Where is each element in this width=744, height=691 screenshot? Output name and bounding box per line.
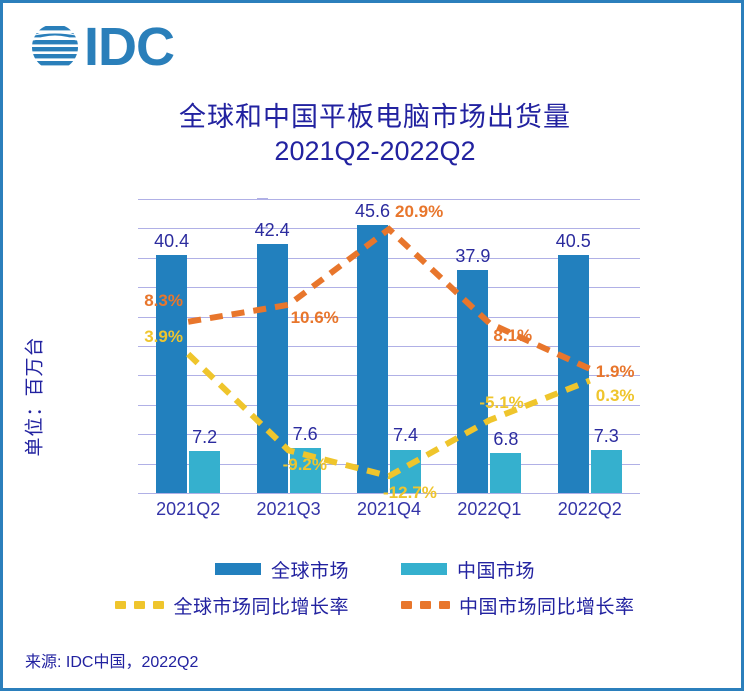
legend-label-global: 全球市场 bbox=[271, 556, 349, 583]
line-china-growth bbox=[188, 229, 590, 369]
legend-item-china-growth: 中国市场同比增长率 bbox=[401, 592, 635, 619]
chart-card: IDC 全球和中国平板电脑市场出货量 2021Q2-2022Q2 单位：百万台 … bbox=[0, 0, 744, 691]
point-label-china-growth: 20.9% bbox=[395, 203, 443, 220]
point-label-global-growth: 3.9% bbox=[144, 328, 183, 345]
chart-area: 单位：百万台 05101520253035404550-15%-10%-5%0%… bbox=[3, 183, 744, 513]
source-note: 来源: IDC中国，2022Q2 bbox=[25, 648, 198, 672]
legend-label-china: 中国市场 bbox=[457, 556, 535, 583]
point-label-global-growth: -5.1% bbox=[479, 394, 523, 411]
x-axis-tick: 2022Q1 bbox=[439, 499, 539, 520]
globe-icon bbox=[29, 21, 81, 73]
legend-item-global-market: 全球市场 bbox=[215, 556, 349, 583]
point-label-global-growth: 0.3% bbox=[596, 387, 635, 404]
legend-label-global-growth: 全球市场同比增长率 bbox=[173, 592, 349, 619]
growth-lines bbox=[138, 199, 640, 493]
plot-area: 05101520253035404550-15%-10%-5%0%5%10%15… bbox=[138, 199, 640, 493]
point-label-china-growth: 1.9% bbox=[596, 363, 635, 380]
point-label-china-growth: 8.3% bbox=[144, 292, 183, 309]
y-axis-label: 单位：百万台 bbox=[20, 307, 47, 487]
legend-item-china-market: 中国市场 bbox=[401, 556, 535, 583]
legend-swatch-global bbox=[215, 563, 261, 575]
point-label-china-growth: 10.6% bbox=[291, 309, 339, 326]
legend-dash-china-growth bbox=[401, 601, 451, 609]
x-axis-tick: 2022Q2 bbox=[540, 499, 640, 520]
page-title: 全球和中国平板电脑市场出货量 bbox=[3, 95, 744, 134]
point-label-global-growth: -12.7% bbox=[383, 484, 437, 501]
legend-label-china-growth: 中国市场同比增长率 bbox=[459, 592, 635, 619]
idc-logo: IDC bbox=[29, 21, 174, 73]
x-axis-tick: 2021Q3 bbox=[238, 499, 338, 520]
x-axis-tick: 2021Q2 bbox=[138, 499, 238, 520]
point-label-china-growth: 8.1% bbox=[493, 327, 532, 344]
point-label-global-growth: -9.2% bbox=[283, 456, 327, 473]
line-global-growth bbox=[188, 354, 590, 476]
chart-legend: 全球市场 中国市场 全球市场同比增长率 中国市场同比增长率 bbox=[3, 551, 744, 623]
legend-swatch-china bbox=[401, 563, 447, 575]
legend-dash-global-growth bbox=[115, 601, 165, 609]
idc-logo-text: IDC bbox=[84, 21, 174, 73]
legend-item-global-growth: 全球市场同比增长率 bbox=[115, 592, 349, 619]
x-axis-tick: 2021Q4 bbox=[339, 499, 439, 520]
page-subtitle: 2021Q2-2022Q2 bbox=[3, 136, 744, 167]
